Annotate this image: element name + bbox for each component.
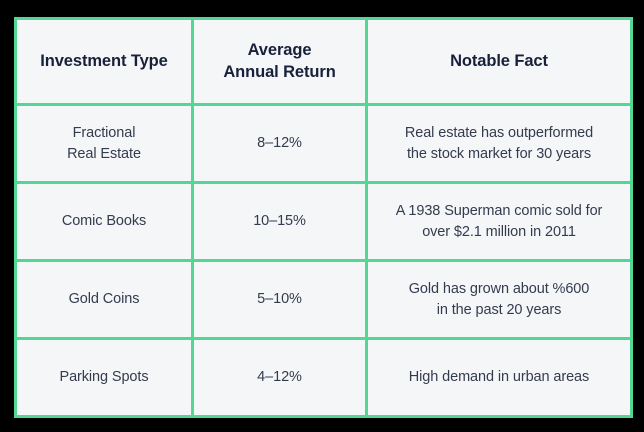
cell-investment-type: Gold Coins — [16, 261, 193, 339]
cell-investment-type-line-1: Comic Books — [25, 211, 183, 232]
column-header-notable-fact-line-1: Notable Fact — [376, 51, 622, 72]
investment-comparison-table: Investment Type Average Annual Return No… — [14, 17, 633, 418]
column-header-average-annual-return-line-2: Annual Return — [202, 62, 357, 83]
cell-investment-type: Parking Spots — [16, 339, 193, 417]
column-header-average-annual-return: Average Annual Return — [193, 19, 367, 105]
cell-notable-fact: High demand in urban areas — [367, 339, 632, 417]
cell-notable-fact-line-2: the stock market for 30 years — [376, 144, 622, 165]
column-header-average-annual-return-line-1: Average — [202, 40, 357, 61]
cell-investment-type-line-1: Fractional — [25, 123, 183, 144]
investment-table-container: Investment Type Average Annual Return No… — [14, 17, 630, 415]
cell-investment-type-line-1: Parking Spots — [25, 367, 183, 388]
cell-investment-type-line-1: Gold Coins — [25, 289, 183, 310]
cell-average-annual-return: 10–15% — [193, 183, 367, 261]
cell-notable-fact: A 1938 Superman comic sold for over $2.1… — [367, 183, 632, 261]
column-header-investment-type: Investment Type — [16, 19, 193, 105]
table-header: Investment Type Average Annual Return No… — [16, 19, 632, 105]
cell-notable-fact-line-1: High demand in urban areas — [376, 367, 622, 388]
table-body: Fractional Real Estate 8–12% Real estate… — [16, 105, 632, 417]
column-header-notable-fact: Notable Fact — [367, 19, 632, 105]
cell-notable-fact: Gold has grown about %600 in the past 20… — [367, 261, 632, 339]
cell-notable-fact-line-2: in the past 20 years — [376, 300, 622, 321]
table-row: Parking Spots 4–12% High demand in urban… — [16, 339, 632, 417]
table-header-row: Investment Type Average Annual Return No… — [16, 19, 632, 105]
cell-investment-type: Comic Books — [16, 183, 193, 261]
cell-average-annual-return: 5–10% — [193, 261, 367, 339]
table-row: Comic Books 10–15% A 1938 Superman comic… — [16, 183, 632, 261]
cell-notable-fact-line-1: Real estate has outperformed — [376, 123, 622, 144]
cell-average-annual-return: 8–12% — [193, 105, 367, 183]
cell-notable-fact-line-2: over $2.1 million in 2011 — [376, 222, 622, 243]
column-header-investment-type-line-1: Investment Type — [25, 51, 183, 72]
cell-notable-fact-line-1: A 1938 Superman comic sold for — [376, 201, 622, 222]
table-row: Fractional Real Estate 8–12% Real estate… — [16, 105, 632, 183]
cell-average-annual-return: 4–12% — [193, 339, 367, 417]
cell-investment-type-line-2: Real Estate — [25, 144, 183, 165]
cell-notable-fact-line-1: Gold has grown about %600 — [376, 279, 622, 300]
cell-notable-fact: Real estate has outperformed the stock m… — [367, 105, 632, 183]
cell-investment-type: Fractional Real Estate — [16, 105, 193, 183]
table-row: Gold Coins 5–10% Gold has grown about %6… — [16, 261, 632, 339]
